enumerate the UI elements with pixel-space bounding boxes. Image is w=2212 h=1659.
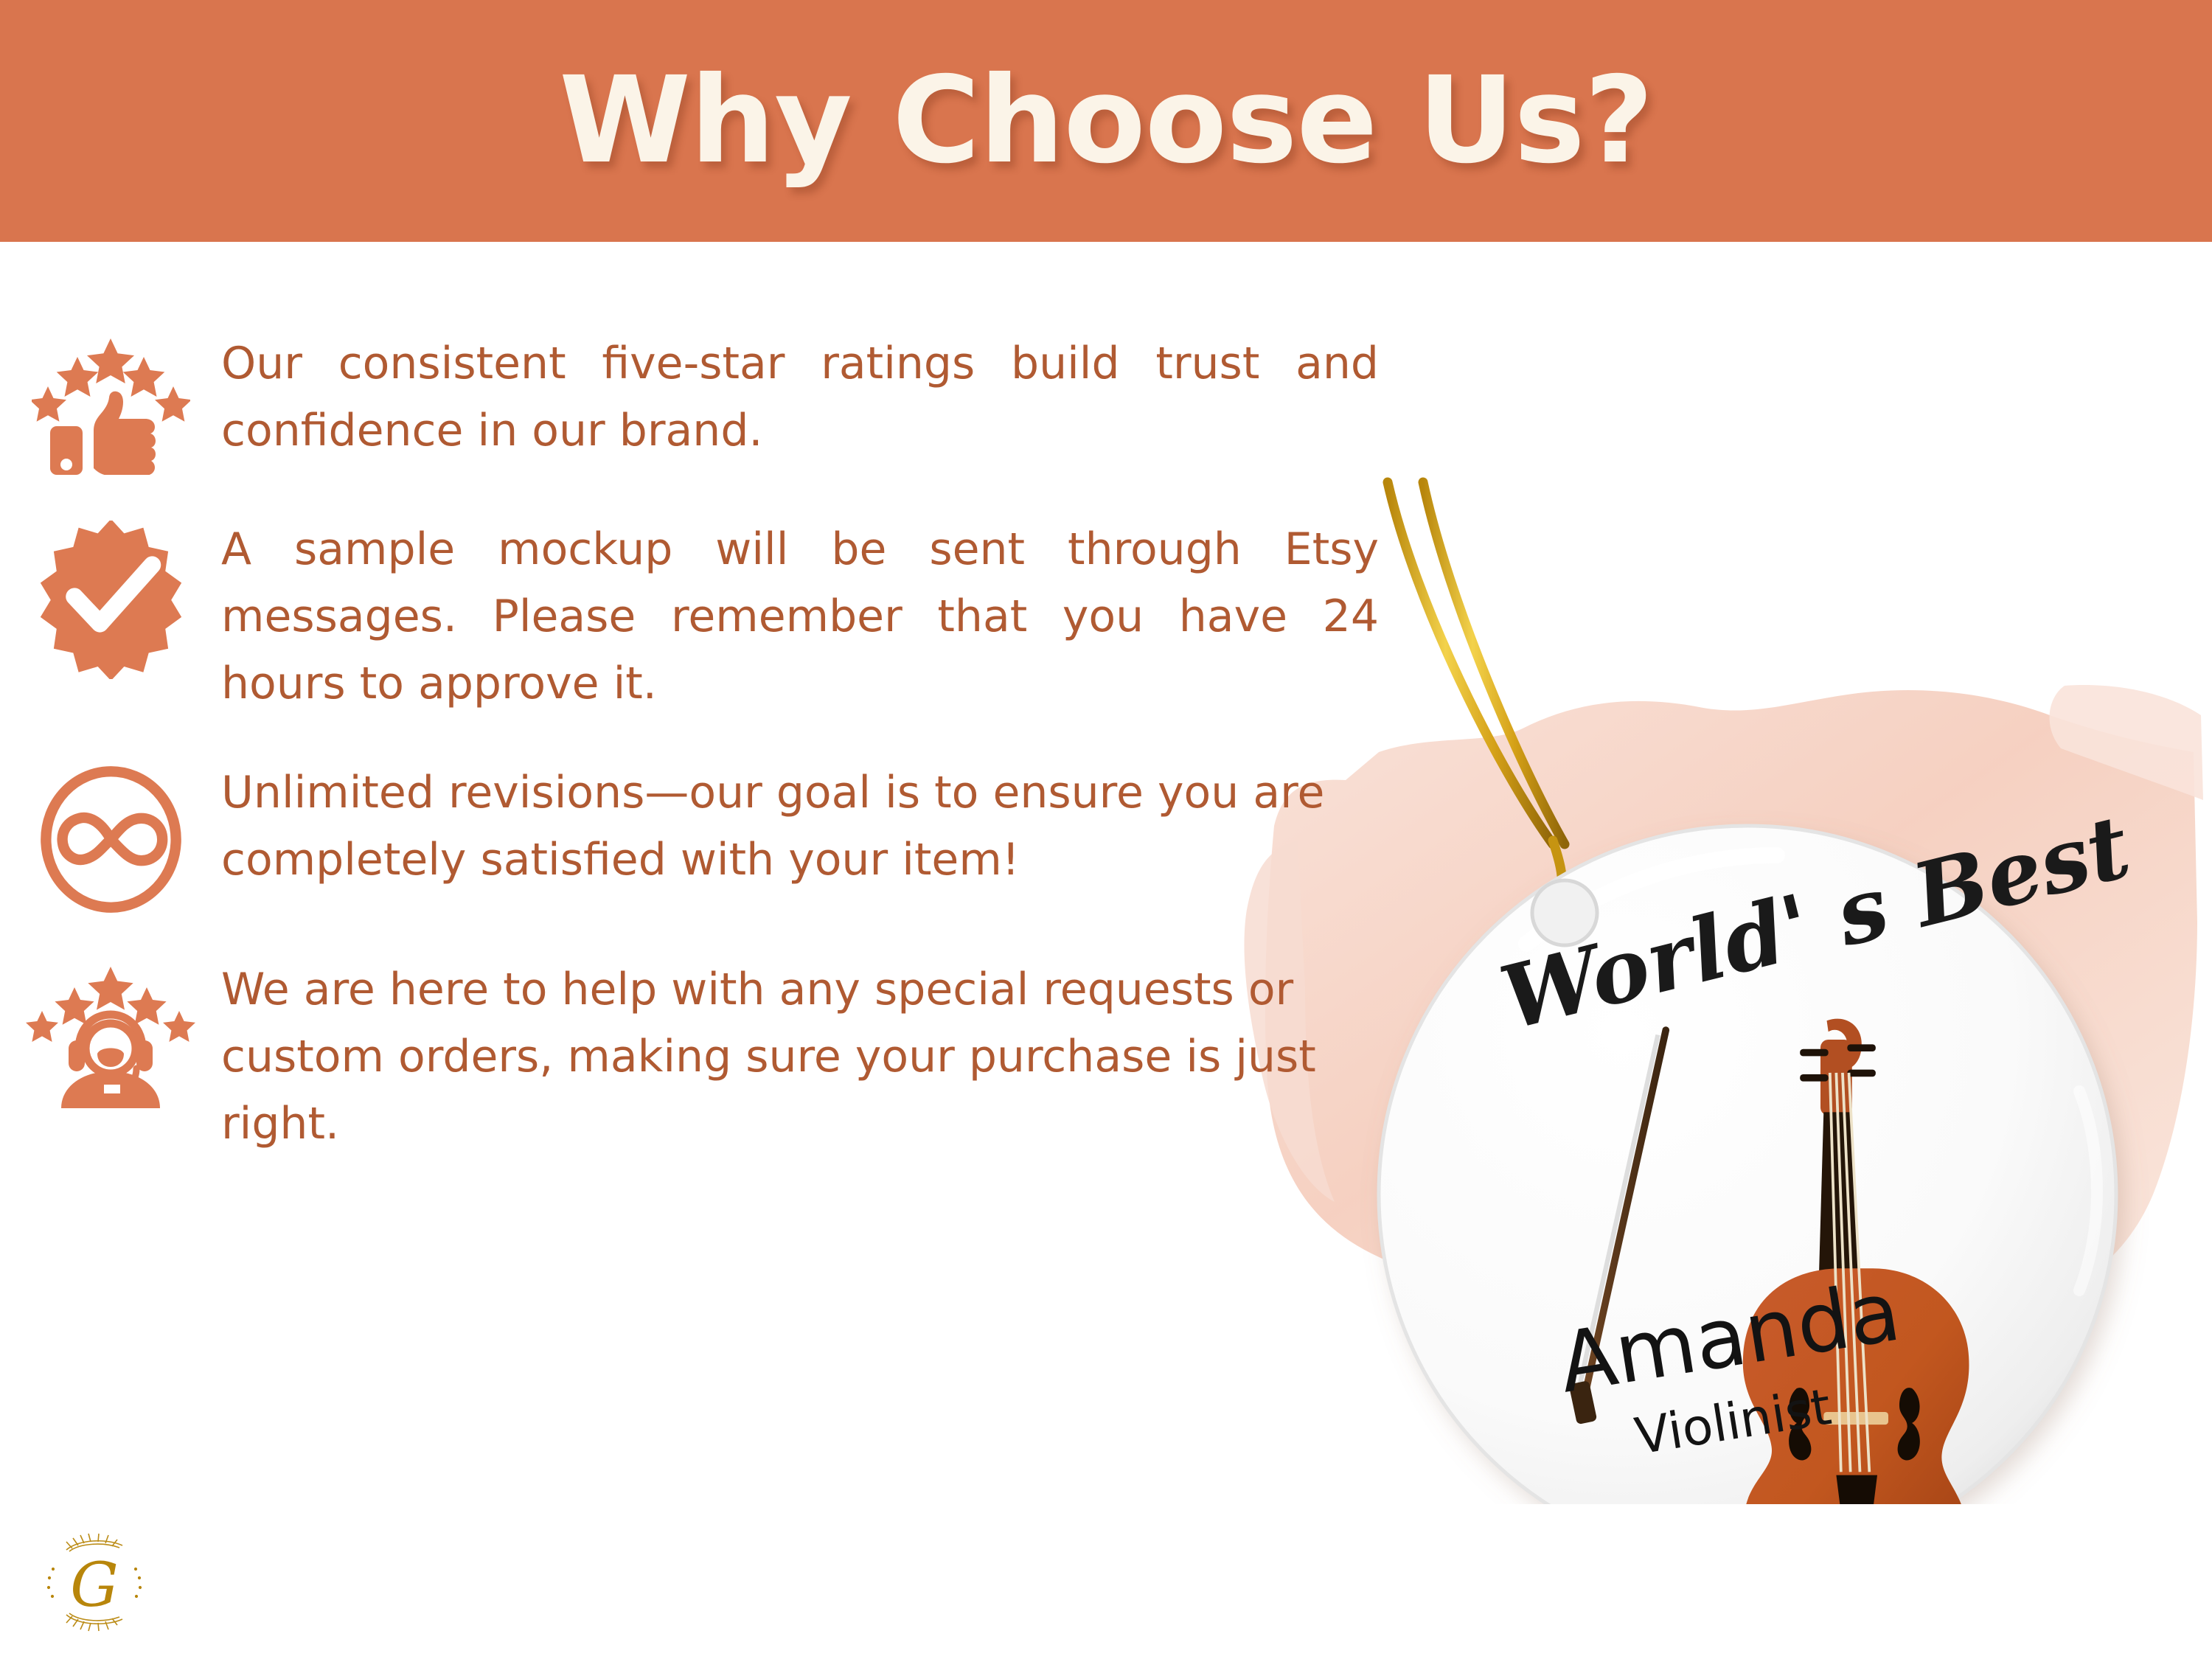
feature-icon-container [0, 516, 221, 679]
feature-text-support: We are here to help with any special req… [221, 956, 1401, 1158]
feature-text-revisions: Unlimited revisions—our goal is to ensur… [221, 759, 1401, 894]
feature-item-support: We are here to help with any special req… [0, 956, 1475, 1158]
five-star-thumbs-up-icon [32, 335, 190, 475]
feature-item-ratings: Our consistent five-star ratings build t… [0, 330, 1475, 475]
feature-icon-container [0, 956, 221, 1108]
infinity-circle-icon [35, 764, 187, 915]
feature-text-ratings: Our consistent five-star ratings build t… [221, 330, 1401, 465]
feature-item-mockup: A sample mockup will be sent through Ets… [0, 516, 1475, 718]
feature-item-revisions: Unlimited revisions—our goal is to ensur… [0, 759, 1475, 915]
logo-letter: G [70, 1551, 119, 1621]
verified-badge-check-icon [32, 521, 190, 679]
feature-icon-container [0, 759, 221, 915]
page-title: Why Choose Us? [559, 61, 1652, 181]
brand-monogram-logo: G [35, 1523, 153, 1641]
feature-text-mockup: A sample mockup will be sent through Ets… [221, 516, 1401, 718]
header-banner: Why Choose Us? [0, 0, 2212, 242]
feature-list: Our consistent five-star ratings build t… [0, 242, 1475, 1199]
feature-icon-container [0, 330, 221, 475]
customer-support-agent-stars-icon [26, 961, 195, 1108]
